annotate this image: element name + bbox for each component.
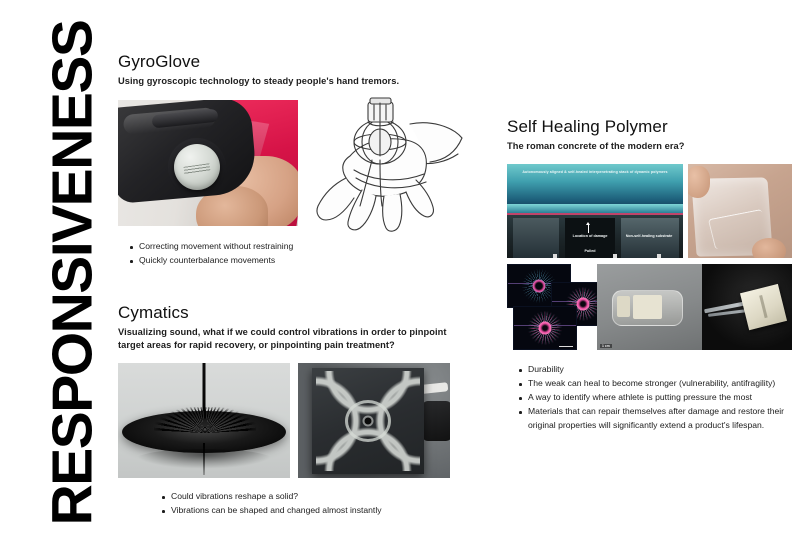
vibration-plate — [312, 368, 424, 474]
cymatics-title: Cymatics — [118, 303, 458, 323]
burst-core — [533, 280, 546, 293]
burst-core — [577, 298, 590, 311]
diagram-tick — [613, 254, 617, 258]
microscopy-tile — [513, 306, 577, 350]
gyro-module-disc — [174, 144, 220, 190]
list-item: Vibrations can be shaped and changed alm… — [160, 504, 458, 518]
cymatics-bullet-list: Could vibrations reshape a solid? Vibrat… — [118, 490, 458, 518]
burst-core — [539, 322, 552, 335]
presentation-board: RESPONSIVENESS GyroGlove Using gyroscopi… — [0, 0, 800, 545]
sample-scale-tag: 1 cm — [600, 344, 612, 348]
splash-crown — [154, 407, 256, 433]
diagram-pulled-label: Pulled — [565, 249, 615, 254]
gyroglove-subtitle: Using gyroscopic technology to steady pe… — [118, 75, 468, 88]
diagram-interface-band — [507, 204, 683, 213]
diagram-tick — [553, 254, 557, 258]
section-cymatics: Cymatics Visualizing sound, what if we c… — [118, 303, 458, 518]
list-item: A way to identify where athlete is putti… — [517, 391, 789, 405]
polymer-bullet-list: Durability The weak can heal to become s… — [507, 363, 789, 433]
hand-finger — [688, 166, 710, 198]
sample-dish-panel: 1 cm — [597, 264, 702, 350]
crack-burst-pattern — [528, 311, 562, 345]
polymer-chunk-secondary — [617, 296, 630, 317]
vertical-title-container: RESPONSIVENESS — [18, 0, 128, 545]
page-title: RESPONSIVENESS — [45, 20, 102, 525]
chladni-plate-photo — [298, 363, 450, 478]
list-item: Durability — [517, 363, 789, 377]
sample-tweezer-panel — [702, 264, 792, 350]
section-self-healing-polymer: Self Healing Polymer The roman concrete … — [507, 117, 792, 433]
diagram-substrate-label: Non-self-healing substrate — [619, 234, 679, 239]
list-item: Materials that can repair themselves aft… — [517, 405, 789, 433]
list-item: Correcting movement without restraining — [128, 240, 468, 254]
droplet-stream-reflection — [203, 443, 205, 475]
scale-bar — [559, 346, 573, 348]
hand-thumb — [752, 238, 786, 258]
diagram-tick — [657, 254, 661, 258]
polymer-chunk — [633, 295, 662, 319]
gyroglove-hand-sketch — [306, 96, 468, 234]
hand-sketch-svg — [306, 96, 468, 234]
cymatics-subtitle: Visualizing sound, what if we could cont… — [118, 326, 458, 352]
gyroglove-title: GyroGlove — [118, 52, 468, 72]
gyroglove-bullet-list: Correcting movement without restraining … — [118, 240, 468, 268]
list-item: Quickly counterbalance movements — [128, 254, 468, 268]
gyroglove-photo — [118, 100, 298, 226]
polymer-title: Self Healing Polymer — [507, 117, 792, 137]
plate-center-mount — [365, 418, 372, 425]
list-item: Could vibrations reshape a solid? — [160, 490, 458, 504]
diagram-arrow-icon — [588, 224, 589, 233]
polymer-layer-diagram: Autonomously aligned & self-healed inter… — [507, 164, 683, 258]
diagram-top-label: Autonomously aligned & self-healed inter… — [517, 170, 673, 175]
section-gyroglove: GyroGlove Using gyroscopic technology to… — [118, 52, 468, 268]
polymer-sheet-photo — [688, 164, 792, 258]
plate-shaker — [422, 401, 450, 441]
cymatics-media-row — [118, 363, 458, 478]
list-item: The weak can heal to become stronger (vu… — [517, 377, 789, 391]
diagram-damage-label: Location of damage — [563, 234, 617, 239]
gyroglove-media-row — [118, 100, 468, 228]
diagram-block-left — [513, 218, 559, 258]
polymer-subtitle: The roman concrete of the modern era? — [507, 140, 792, 153]
ferrofluid-droplet-photo — [118, 363, 290, 478]
polymer-sample-photo: 1 cm — [597, 264, 792, 350]
polymer-swatch — [740, 284, 787, 330]
polymer-media-grid: Autonomously aligned & self-healed inter… — [507, 164, 792, 349]
